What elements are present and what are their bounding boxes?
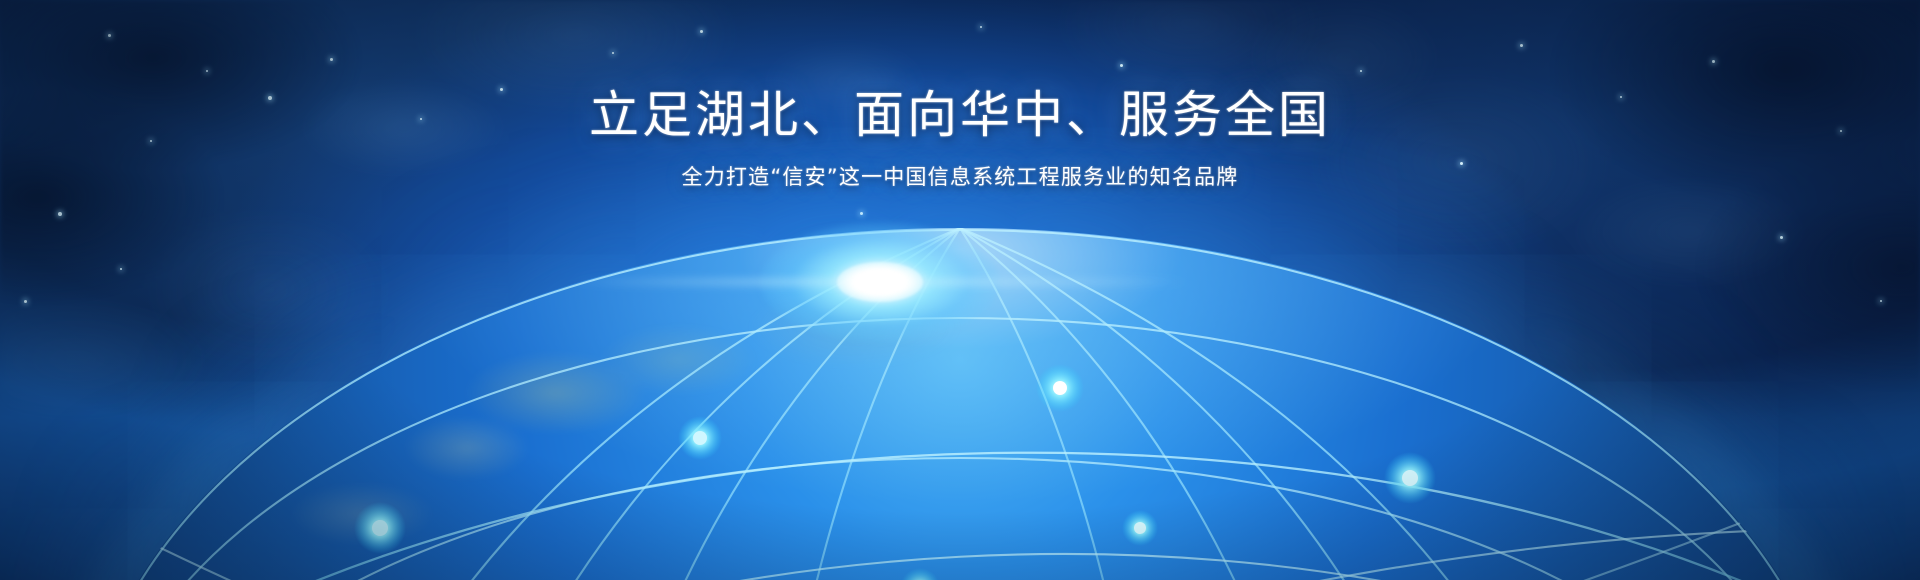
banner-headline: 立足湖北、面向华中、服务全国 [0,84,1920,146]
banner-subheadline: 全力打造“信安”这一中国信息系统工程服务业的知名品牌 [0,162,1920,192]
star [700,30,703,33]
star [1520,44,1523,47]
star [1120,64,1123,67]
star [1360,70,1362,72]
star [1712,60,1715,63]
hero-banner: 立足湖北、面向华中、服务全国 全力打造“信安”这一中国信息系统工程服务业的知名品… [0,0,1920,580]
star [612,52,614,54]
star [24,300,27,303]
star [108,34,111,37]
star [980,26,982,28]
star [1880,300,1882,302]
banner-text-block: 立足湖北、面向华中、服务全国 全力打造“信安”这一中国信息系统工程服务业的知名品… [0,84,1920,192]
star [330,58,333,61]
star [206,70,208,72]
light-burst-core [837,262,923,302]
star [58,212,62,216]
